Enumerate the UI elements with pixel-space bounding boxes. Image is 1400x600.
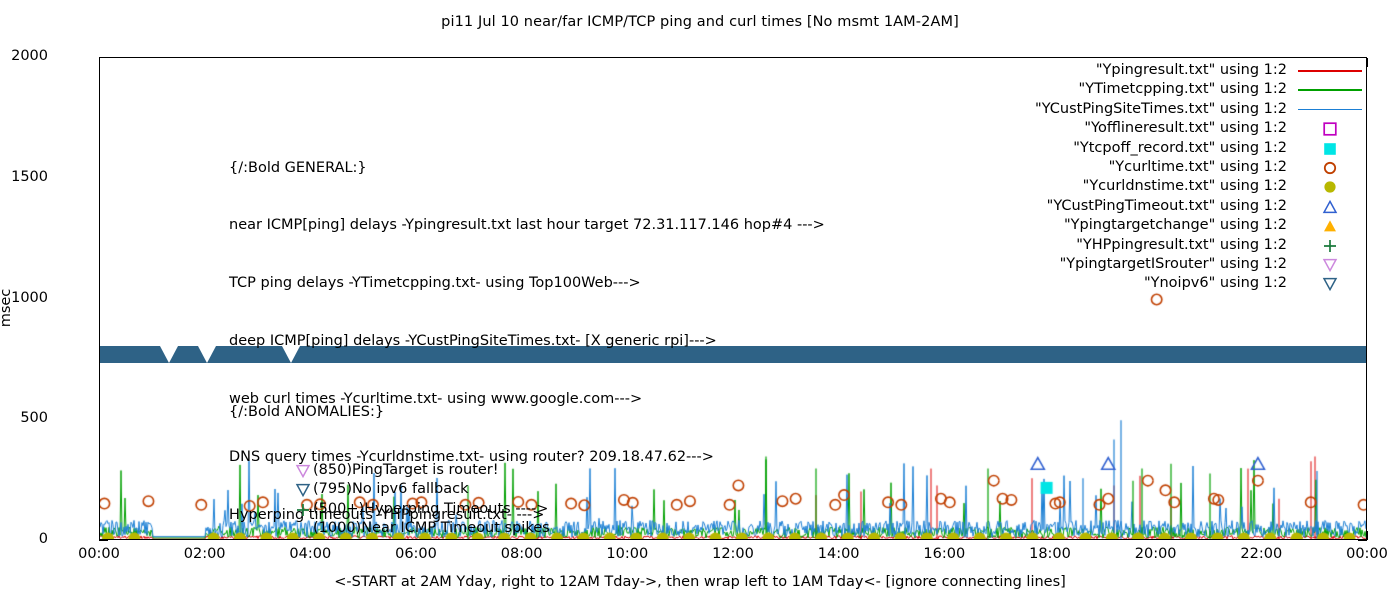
legend-key bbox=[1293, 177, 1367, 196]
legend-marker-icon bbox=[1322, 276, 1338, 292]
x-tick-label: 00:00 bbox=[49, 546, 149, 562]
legend-label: "Ypingtargetchange" using 1:2 bbox=[1064, 216, 1287, 235]
anomaly-label: (850)PingTarget is router! bbox=[229, 461, 499, 480]
x-tick-label: 06:00 bbox=[366, 546, 466, 562]
x-tick-label: 00:00 bbox=[1317, 546, 1400, 562]
y-tick-mark bbox=[1358, 540, 1367, 541]
x-tick-label: 04:00 bbox=[260, 546, 360, 562]
x-tick-label: 10:00 bbox=[577, 546, 677, 562]
anomaly-row: (795)No ipv6 fallback bbox=[229, 480, 550, 499]
anomalies-rows: (850)PingTarget is router!(795)No ipv6 f… bbox=[229, 461, 550, 540]
legend-label: "YTimetcpping.txt" using 1:2 bbox=[1079, 80, 1287, 99]
y-tick-label: 500 bbox=[0, 410, 48, 426]
x-tick-label: 02:00 bbox=[155, 546, 255, 562]
anomaly-marker-icon bbox=[295, 482, 311, 498]
legend-key bbox=[1293, 216, 1367, 235]
legend-line-swatch bbox=[1298, 70, 1362, 72]
legend-entry: "Ypingtargetchange" using 1:2 bbox=[1035, 216, 1367, 235]
x-axis-label: <-START at 2AM Yday, right to 12AM Tday-… bbox=[0, 574, 1400, 590]
legend-entry: "Ycurltime.txt" using 1:2 bbox=[1035, 158, 1367, 177]
legend-marker-icon bbox=[1322, 160, 1338, 176]
general-line: near ICMP[ping] delays -Ypingresult.txt … bbox=[229, 216, 825, 235]
legend-key bbox=[1293, 61, 1367, 80]
legend-key bbox=[1293, 255, 1367, 274]
legend-key bbox=[1293, 274, 1367, 293]
legend-key bbox=[1293, 236, 1367, 255]
legend-marker-icon bbox=[1322, 257, 1338, 273]
x-tick-label: 22:00 bbox=[1211, 546, 1311, 562]
legend-label: "YHPpingresult.txt" using 1:2 bbox=[1076, 236, 1287, 255]
chart-legend: "Ypingresult.txt" using 1:2"YTimetcpping… bbox=[1035, 61, 1367, 294]
legend-entry: "YTimetcpping.txt" using 1:2 bbox=[1035, 80, 1367, 99]
x-tick-label: 14:00 bbox=[789, 546, 889, 562]
legend-marker-icon bbox=[1322, 218, 1338, 234]
anomaly-row: (550)Ping Target Changes ---> bbox=[229, 539, 550, 540]
legend-entry: "Ynoipv6" using 1:2 bbox=[1035, 274, 1367, 293]
x-tick-mark bbox=[1367, 531, 1368, 540]
x-tick-mark bbox=[1367, 58, 1368, 67]
anomaly-marker-icon bbox=[295, 463, 311, 479]
legend-line-swatch bbox=[1298, 109, 1362, 111]
general-line: TCP ping delays -YTimetcpping.txt- using… bbox=[229, 274, 825, 293]
band-gap bbox=[198, 346, 216, 363]
x-tick-label: 12:00 bbox=[683, 546, 783, 562]
anomaly-label: (550)Ping Target Changes ---> bbox=[229, 539, 532, 540]
y-tick-label: 0 bbox=[0, 531, 48, 547]
legend-marker-icon bbox=[1322, 121, 1338, 137]
legend-key bbox=[1293, 139, 1367, 158]
anomaly-marker-icon bbox=[295, 502, 311, 518]
y-tick-mark bbox=[99, 540, 108, 541]
legend-entry: "Ytcpoff_record.txt" using 1:2 bbox=[1035, 139, 1367, 158]
legend-key bbox=[1293, 119, 1367, 138]
anomaly-label: (500+)Hyperping Timeouts ----> bbox=[229, 500, 548, 519]
x-tick-label: 20:00 bbox=[1106, 546, 1206, 562]
legend-label: "Ycurldnstime.txt" using 1:2 bbox=[1083, 177, 1287, 196]
legend-label: "YpingtargetISrouter" using 1:2 bbox=[1060, 255, 1287, 274]
legend-label: "Ytcpoff_record.txt" using 1:2 bbox=[1073, 139, 1287, 158]
legend-label: "Yofflineresult.txt" using 1:2 bbox=[1084, 119, 1287, 138]
chart-title: pi11 Jul 10 near/far ICMP/TCP ping and c… bbox=[0, 14, 1400, 30]
anomalies-annotation-block: {/:Bold ANOMALIES:} (850)PingTarget is r… bbox=[229, 364, 550, 540]
legend-marker-icon bbox=[1322, 238, 1338, 254]
legend-label: "Ycurltime.txt" using 1:2 bbox=[1109, 158, 1287, 177]
anomalies-header: {/:Bold ANOMALIES:} bbox=[229, 403, 550, 422]
legend-label: "Ypingresult.txt" using 1:2 bbox=[1096, 61, 1287, 80]
anomaly-label: (795)No ipv6 fallback bbox=[229, 480, 468, 499]
legend-entry: "YHPpingresult.txt" using 1:2 bbox=[1035, 236, 1367, 255]
legend-entry: "Yofflineresult.txt" using 1:2 bbox=[1035, 119, 1367, 138]
general-header: {/:Bold GENERAL:} bbox=[229, 159, 825, 178]
y-tick-label: 1000 bbox=[0, 290, 48, 306]
legend-key bbox=[1293, 100, 1367, 119]
legend-label: "Ynoipv6" using 1:2 bbox=[1144, 274, 1287, 293]
legend-line-swatch bbox=[1298, 89, 1362, 91]
anomaly-row: (500+)Hyperping Timeouts ----> bbox=[229, 500, 550, 519]
legend-marker-icon bbox=[1322, 199, 1338, 215]
legend-marker-icon bbox=[1322, 141, 1338, 157]
y-tick-label: 1500 bbox=[0, 169, 48, 185]
anomaly-row: (1000)Near ICMP Timeout spikes bbox=[229, 519, 550, 538]
legend-key bbox=[1293, 158, 1367, 177]
legend-entry: "YCustPingSiteTimes.txt" using 1:2 bbox=[1035, 100, 1367, 119]
x-tick-label: 18:00 bbox=[1000, 546, 1100, 562]
legend-label: "YCustPingTimeout.txt" using 1:2 bbox=[1047, 197, 1287, 216]
band-gap bbox=[160, 346, 178, 363]
legend-entry: "Ycurldnstime.txt" using 1:2 bbox=[1035, 177, 1367, 196]
general-line: deep ICMP[ping] delays -YCustPingSiteTim… bbox=[229, 332, 825, 351]
anomaly-row: (850)PingTarget is router! bbox=[229, 461, 550, 480]
x-tick-label: 08:00 bbox=[472, 546, 572, 562]
legend-entry: "YCustPingTimeout.txt" using 1:2 bbox=[1035, 197, 1367, 216]
legend-key bbox=[1293, 80, 1367, 99]
legend-marker-icon bbox=[1322, 179, 1338, 195]
legend-entry: "YpingtargetISrouter" using 1:2 bbox=[1035, 255, 1367, 274]
legend-label: "YCustPingSiteTimes.txt" using 1:2 bbox=[1035, 100, 1287, 119]
anomaly-label: (1000)Near ICMP Timeout spikes bbox=[229, 519, 550, 538]
y-tick-label: 2000 bbox=[0, 48, 48, 64]
legend-key bbox=[1293, 197, 1367, 216]
x-tick-label: 16:00 bbox=[894, 546, 994, 562]
legend-entry: "Ypingresult.txt" using 1:2 bbox=[1035, 61, 1367, 80]
